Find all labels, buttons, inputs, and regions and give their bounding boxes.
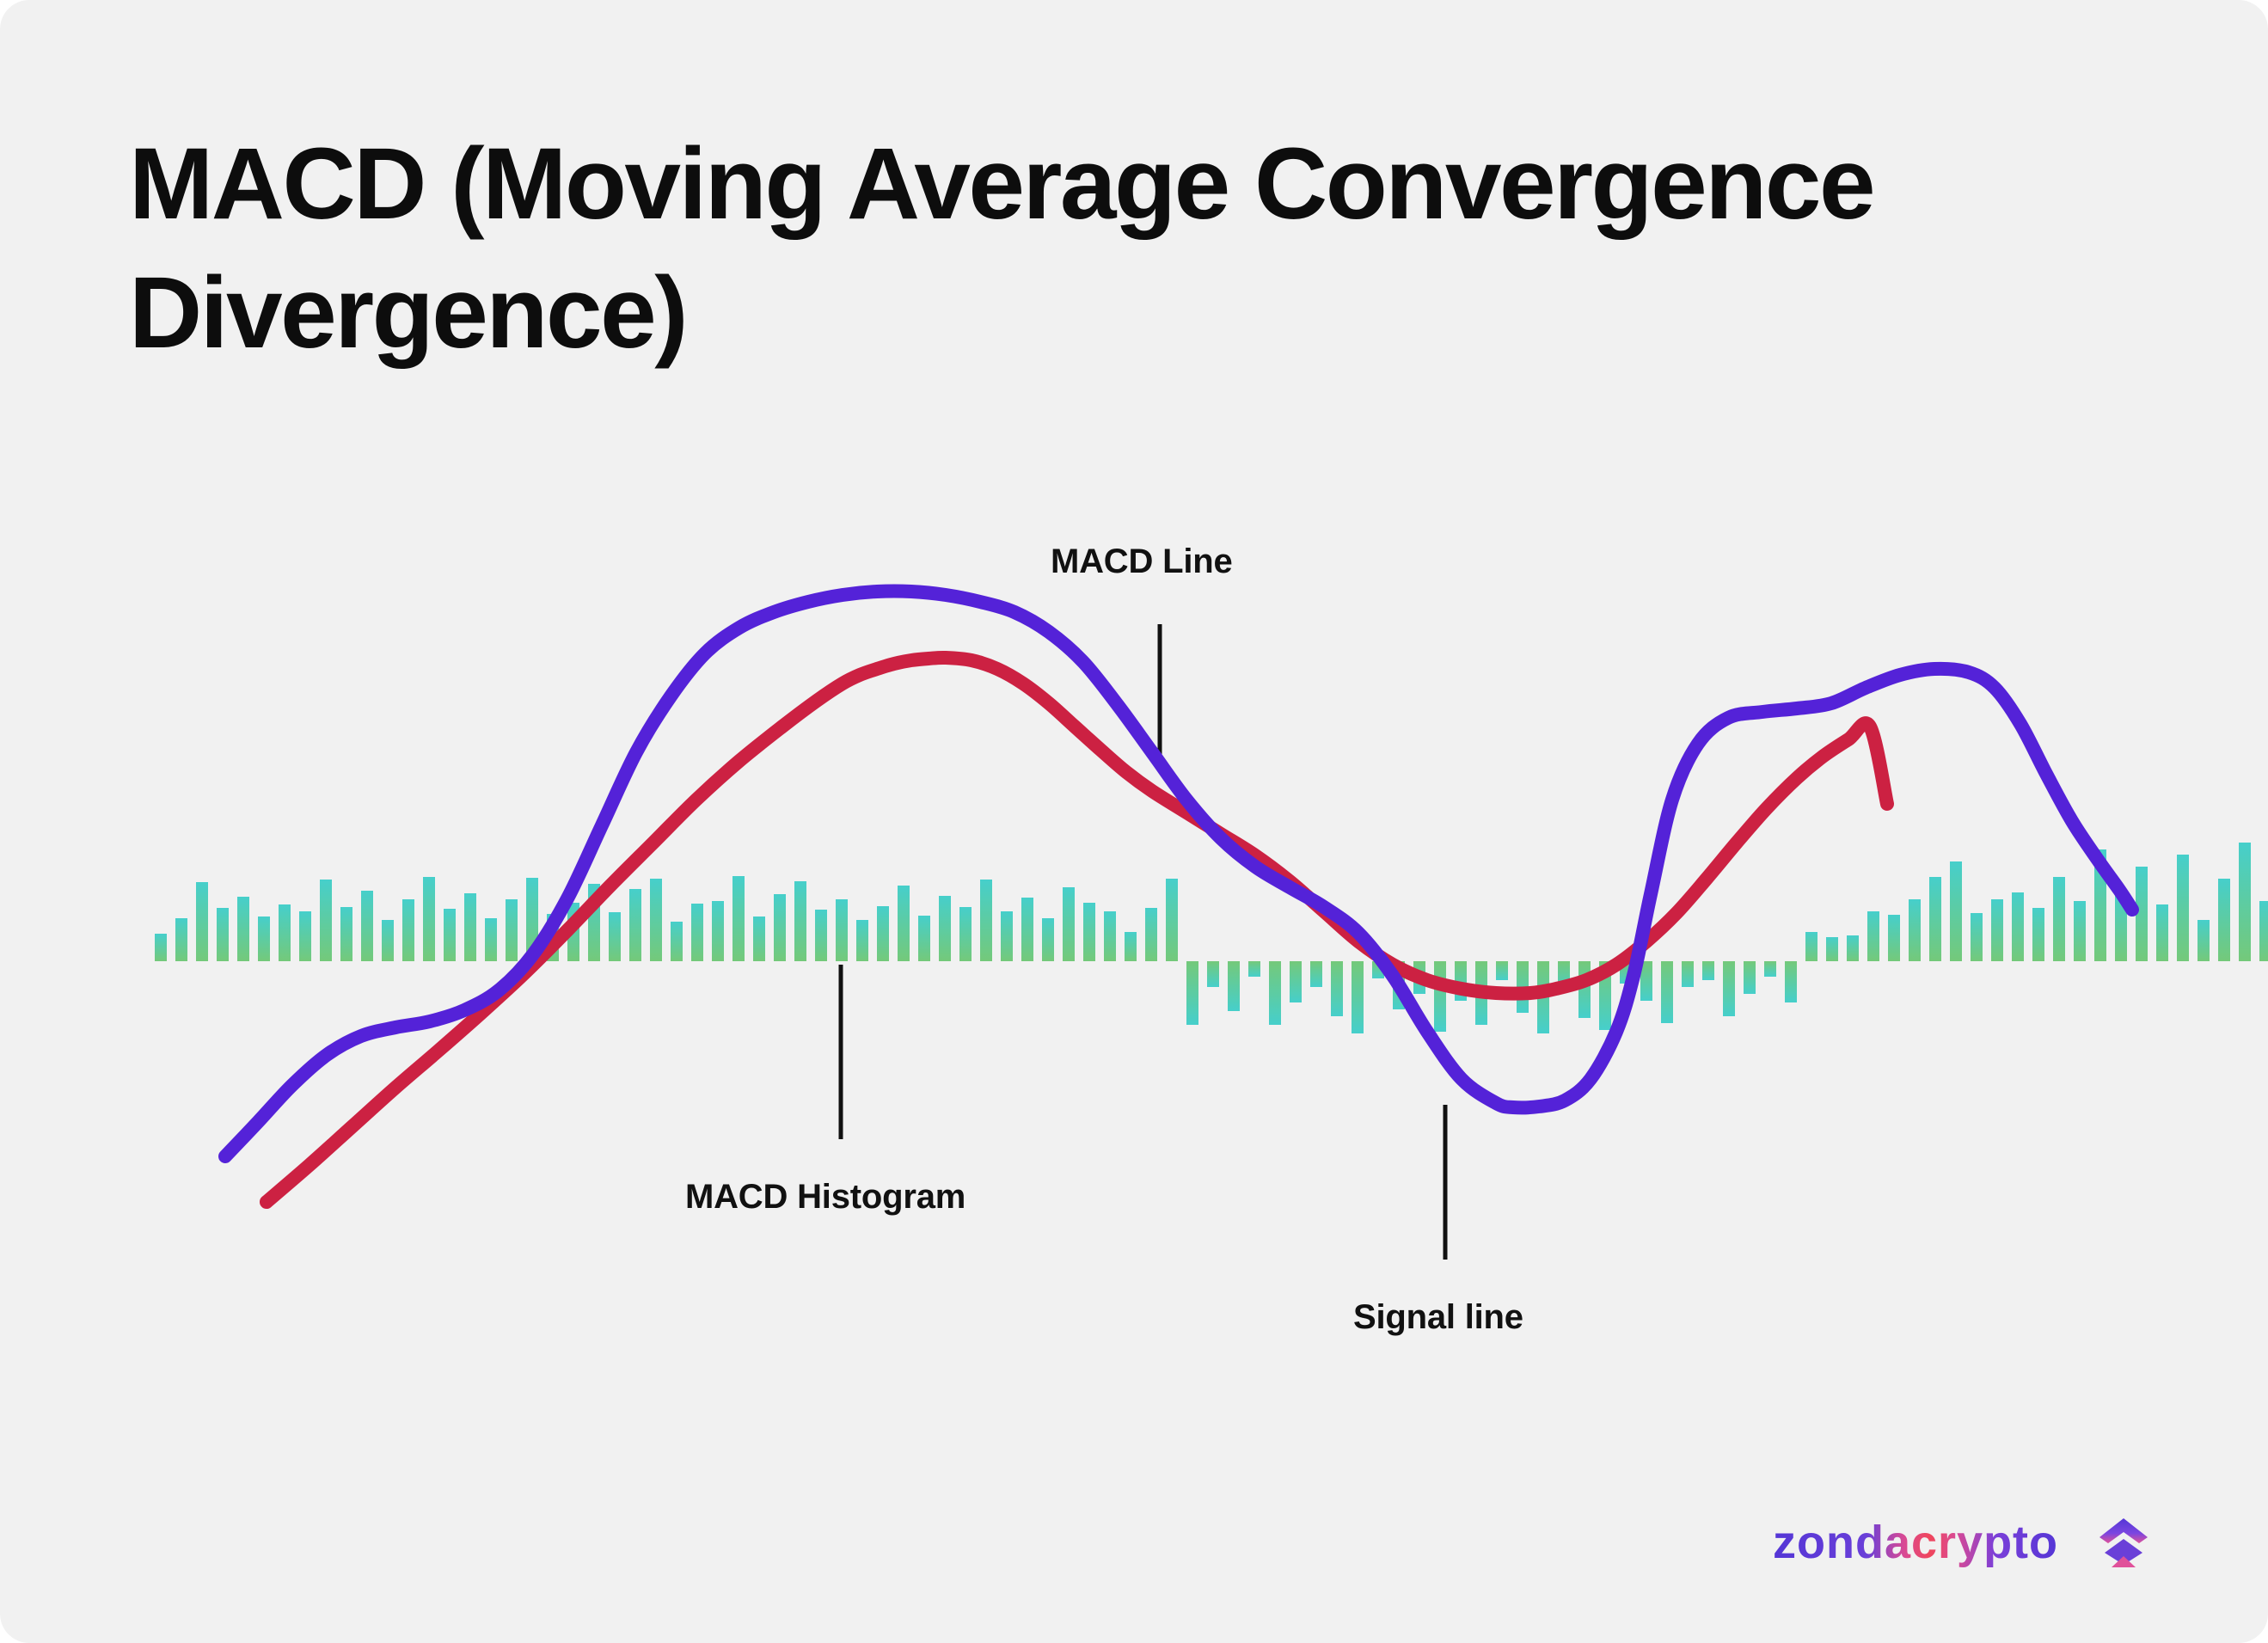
- histogram-bar: [320, 880, 332, 961]
- histogram-bar: [1248, 961, 1260, 977]
- histogram-bar: [1001, 911, 1013, 961]
- histogram-bar: [2156, 904, 2168, 961]
- histogram-bar: [1042, 918, 1054, 961]
- histogram-bar: [155, 934, 167, 961]
- histogram-bar: [340, 907, 352, 961]
- histogram-bar: [1063, 887, 1075, 961]
- histogram-bar: [1228, 961, 1240, 1011]
- histogram-bar: [217, 908, 229, 961]
- histogram-bar: [1950, 861, 1962, 961]
- histogram-bar: [856, 920, 868, 961]
- histogram-bar: [1166, 879, 1178, 961]
- histogram-bar: [650, 879, 662, 961]
- histogram-bar: [1310, 961, 1322, 987]
- histogram-bar: [2032, 908, 2044, 961]
- histogram-bar: [1125, 932, 1137, 961]
- histogram-bar: [1682, 961, 1694, 987]
- histogram-bar: [1764, 961, 1776, 977]
- histogram-bar: [464, 893, 476, 961]
- histogram-bar: [691, 904, 703, 961]
- histogram-bar: [1352, 961, 1364, 1033]
- histogram-bar: [877, 906, 889, 961]
- histogram-bar: [671, 922, 683, 961]
- callout-label-macd-line: MACD Line: [1051, 543, 1233, 581]
- histogram-bar: [299, 911, 311, 961]
- histogram-bar: [402, 899, 414, 961]
- histogram-bar: [237, 897, 249, 961]
- histogram-bar: [2198, 920, 2210, 961]
- histogram-bar: [1723, 961, 1735, 1016]
- histogram-bar: [959, 907, 972, 961]
- histogram-bar: [898, 886, 910, 961]
- histogram-bar: [279, 904, 291, 961]
- histogram-bar: [1805, 932, 1817, 961]
- histogram-bar: [196, 882, 208, 961]
- histogram-bar: [1331, 961, 1343, 1016]
- histogram-bar: [1269, 961, 1281, 1025]
- histogram-bar: [609, 912, 621, 961]
- histogram-bar: [1826, 937, 1838, 961]
- histogram-bar: [1847, 935, 1859, 961]
- callout-label-signal-line: Signal line: [1353, 1298, 1523, 1337]
- histogram-bar: [2239, 843, 2251, 961]
- histogram-bar: [753, 917, 765, 961]
- zonda-chevron-stack-icon: [2099, 1518, 2148, 1567]
- histogram-bar: [712, 901, 724, 961]
- histogram-bar: [1785, 961, 1797, 1002]
- histogram-bar: [980, 880, 992, 961]
- histogram-bar: [1021, 898, 1033, 961]
- histogram-bar: [1496, 961, 1508, 980]
- histogram-bar: [485, 918, 497, 961]
- histogram-bar: [423, 877, 435, 961]
- histogram-bar: [1991, 899, 2003, 961]
- histogram-bar: [629, 889, 641, 961]
- histogram-bar: [258, 917, 270, 961]
- histogram-bar: [506, 899, 518, 961]
- histogram-bar: [2074, 901, 2086, 961]
- macd-chart: [0, 0, 2268, 1643]
- histogram-bar: [1104, 911, 1116, 961]
- histogram-bar: [1888, 915, 1900, 961]
- histogram-bar: [1971, 913, 1983, 961]
- histogram-bar: [382, 920, 394, 961]
- histogram-bar: [1909, 899, 1921, 961]
- histogram-bar: [1145, 908, 1157, 961]
- zondacrypto-logo[interactable]: zondacrypto: [1773, 1513, 2155, 1573]
- infographic-card: MACD (Moving Average Convergence Diverge…: [0, 0, 2268, 1643]
- histogram-bar: [1434, 961, 1446, 1032]
- histogram-bar: [1867, 911, 1879, 961]
- brand-wordmark: zondacrypto: [1773, 1517, 2058, 1568]
- histogram-bar: [361, 891, 373, 961]
- histogram-bar: [815, 910, 827, 961]
- histogram-bar: [1578, 961, 1591, 1018]
- histogram-bar: [774, 894, 786, 961]
- histogram-bar: [918, 916, 930, 961]
- histogram-bar: [1290, 961, 1302, 1002]
- histogram-bar: [2053, 877, 2065, 961]
- histogram-bar: [1929, 877, 1941, 961]
- histogram-bar: [1702, 961, 1714, 980]
- macd-line-path: [225, 592, 2132, 1157]
- histogram-bar: [2218, 879, 2230, 961]
- histogram-bar: [1083, 903, 1095, 961]
- histogram-bar: [2259, 901, 2268, 961]
- histogram-bar: [733, 876, 745, 961]
- callout-label-macd-histogram: MACD Histogram: [685, 1178, 965, 1217]
- histogram-bar: [175, 918, 187, 961]
- histogram-bar: [444, 909, 456, 961]
- histogram-bar: [2012, 892, 2024, 961]
- histogram-bar: [1186, 961, 1198, 1025]
- histogram-bar: [1744, 961, 1756, 994]
- histogram-bar: [836, 899, 848, 961]
- histogram-bar: [1661, 961, 1673, 1023]
- histogram-bar: [794, 881, 806, 961]
- histogram-bar: [939, 896, 951, 961]
- histogram-bar: [1207, 961, 1219, 987]
- histogram-bar: [2177, 855, 2189, 961]
